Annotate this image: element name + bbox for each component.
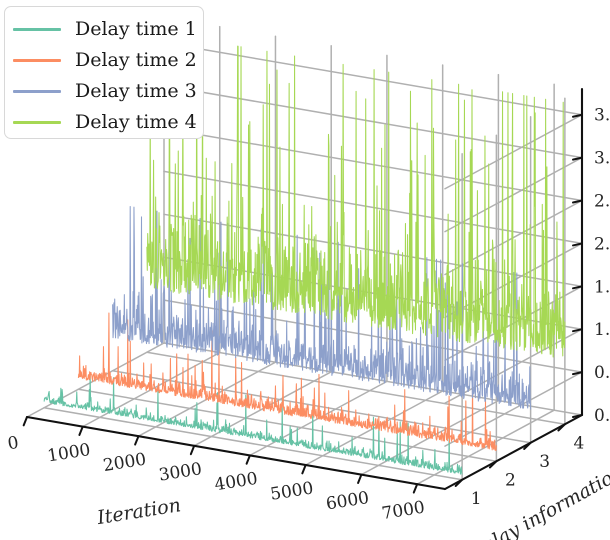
x-tick-label: 0	[6, 433, 20, 454]
legend-label-delay-time-4: Delay time 4	[75, 113, 197, 132]
z-tick-label: 2.0	[594, 234, 610, 254]
y-tick-label: 3	[539, 452, 550, 472]
legend-item-3[interactable]: Delay time 4	[13, 107, 193, 138]
legend-box[interactable]: Delay time 1 Delay time 2 Delay time 3 D…	[4, 6, 204, 139]
z-tick-label: 0.5	[594, 363, 610, 383]
z-tick-label: 1.5	[594, 277, 610, 297]
x-axis-title: Iteration	[95, 494, 183, 529]
y-tick-label: 2	[505, 470, 516, 490]
x-tick-label: 5000	[269, 478, 315, 505]
x-tick-label: 2000	[102, 450, 148, 477]
z-tick-label: 0.0	[594, 406, 610, 426]
legend-swatch-delay-time-4	[13, 121, 61, 124]
legend-label-delay-time-2: Delay time 2	[75, 51, 197, 70]
z-tick-label: 1.0	[594, 320, 610, 340]
legend-label-delay-time-1: Delay time 1	[75, 20, 197, 39]
x-tick-label: 3000	[157, 459, 203, 486]
y-tick-label: 4	[573, 433, 584, 453]
legend-item-0[interactable]: Delay time 1	[13, 14, 193, 45]
figure-3d-delay-times: 0100020003000400050006000700012340.00.51…	[0, 0, 610, 540]
y-tick-label: 1	[471, 489, 482, 509]
x-tick-label: 6000	[325, 488, 371, 515]
legend-swatch-delay-time-2	[13, 59, 61, 62]
legend-swatch-delay-time-3	[13, 90, 61, 93]
x-tick-label: 1000	[46, 440, 92, 467]
legend-label-delay-time-3: Delay time 3	[75, 82, 197, 101]
z-tick-label: 2.5	[594, 192, 610, 212]
legend-swatch-delay-time-1	[13, 28, 61, 31]
y-axis-title: Delay information	[465, 461, 610, 540]
legend-item-2[interactable]: Delay time 3	[13, 76, 193, 107]
legend-item-1[interactable]: Delay time 2	[13, 45, 193, 76]
x-tick-label: 4000	[213, 469, 259, 496]
z-tick-label: 3.0	[594, 149, 610, 169]
x-tick-label: 7000	[380, 498, 426, 525]
z-tick-label: 3.5	[594, 106, 610, 126]
